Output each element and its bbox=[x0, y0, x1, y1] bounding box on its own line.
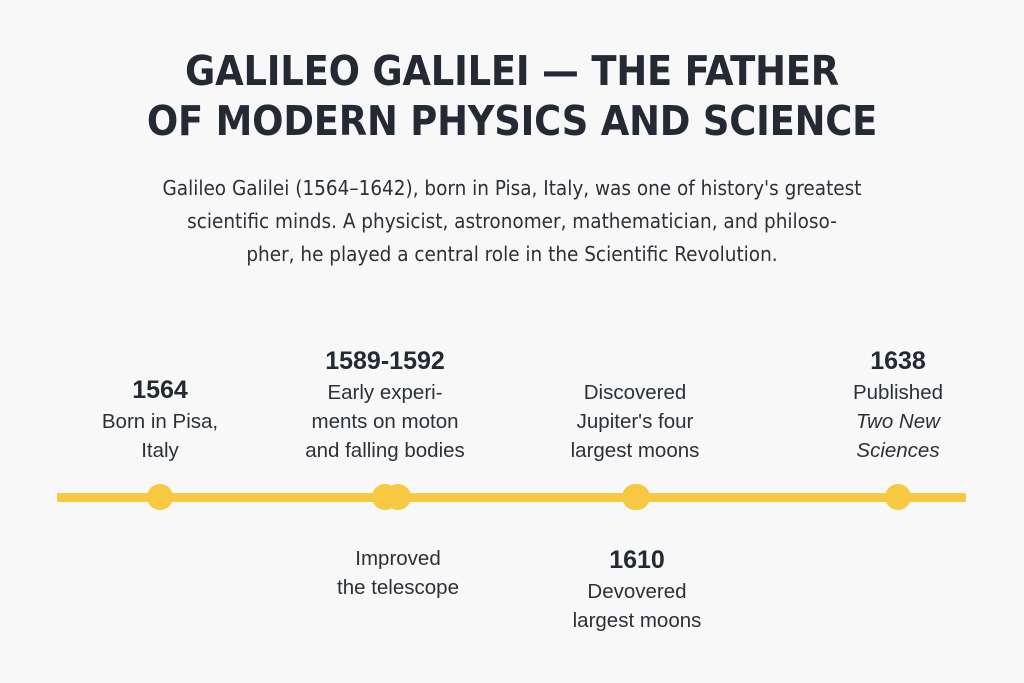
timeline-event-description: Born in Pisa,Italy bbox=[50, 407, 270, 465]
timeline-event[interactable]: 1589-1592Early experi-ments on motonand … bbox=[275, 345, 495, 465]
timeline-event-description-line: the telescope bbox=[288, 573, 508, 602]
timeline-event-description-line: Discovered bbox=[525, 378, 745, 407]
timeline-event-year: 1638 bbox=[788, 345, 1008, 378]
timeline-event[interactable]: 1638PublishedTwo NewSciences bbox=[788, 345, 1008, 465]
timeline-dot[interactable] bbox=[624, 484, 650, 510]
timeline-dot[interactable] bbox=[885, 484, 911, 510]
timeline-event[interactable]: DiscoveredJupiter's fourlargest moons bbox=[525, 378, 745, 465]
timeline-event-description: Early experi-ments on motonand falling b… bbox=[275, 378, 495, 465]
timeline-event-description-line: Jupiter's four bbox=[525, 407, 745, 436]
timeline-event-description: Improvedthe telescope bbox=[288, 544, 508, 602]
intro-paragraph: Galileo Galilei (1564–1642), born in Pis… bbox=[0, 172, 1024, 271]
page-title-line-2: OF MODERN PHYSICS AND SCIENCE bbox=[0, 96, 1024, 146]
timeline-event-description-line: Two New bbox=[788, 407, 1008, 436]
page-header: GALILEO GALILEI — THE FATHER OF MODERN P… bbox=[0, 0, 1024, 271]
intro-line-3: pher, he played a central role in the Sc… bbox=[0, 238, 1024, 271]
timeline-event-description-line: Devovered bbox=[527, 577, 747, 606]
page-title: GALILEO GALILEI — THE FATHER OF MODERN P… bbox=[0, 46, 1024, 146]
timeline-event-description-line: ments on moton bbox=[275, 407, 495, 436]
timeline-event-year: 1589-1592 bbox=[275, 345, 495, 378]
timeline-event-description-line: Early experi- bbox=[275, 378, 495, 407]
intro-line-1: Galileo Galilei (1564–1642), born in Pis… bbox=[0, 172, 1024, 205]
timeline-event-description-line: Sciences bbox=[788, 436, 1008, 465]
timeline-event-description: PublishedTwo NewSciences bbox=[788, 378, 1008, 465]
timeline-event-description-line: Born in Pisa, bbox=[50, 407, 270, 436]
timeline-axis bbox=[57, 493, 966, 502]
timeline-event-description-line: largest moons bbox=[525, 436, 745, 465]
timeline-dot[interactable] bbox=[385, 484, 411, 510]
timeline-event-description: Devoveredlargest moons bbox=[527, 577, 747, 635]
page-title-line-1: GALILEO GALILEI — THE FATHER bbox=[0, 46, 1024, 96]
timeline-event[interactable]: 1610Devoveredlargest moons bbox=[527, 544, 747, 635]
timeline-event-description-line: largest moons bbox=[527, 606, 747, 635]
timeline-event[interactable]: Improvedthe telescope bbox=[288, 544, 508, 602]
timeline-event-year: 1610 bbox=[527, 544, 747, 577]
timeline-event[interactable]: 1564Born in Pisa,Italy bbox=[50, 374, 270, 465]
timeline-event-description-line: Improved bbox=[288, 544, 508, 573]
timeline-dot[interactable] bbox=[147, 484, 173, 510]
timeline-event-year: 1564 bbox=[50, 374, 270, 407]
timeline-event-description-line: Italy bbox=[50, 436, 270, 465]
intro-line-2: scientific minds. A physicist, astronome… bbox=[0, 205, 1024, 238]
timeline-event-description-line: and falling bodies bbox=[275, 436, 495, 465]
timeline-event-description: DiscoveredJupiter's fourlargest moons bbox=[525, 378, 745, 465]
timeline-event-description-line: Published bbox=[788, 378, 1008, 407]
